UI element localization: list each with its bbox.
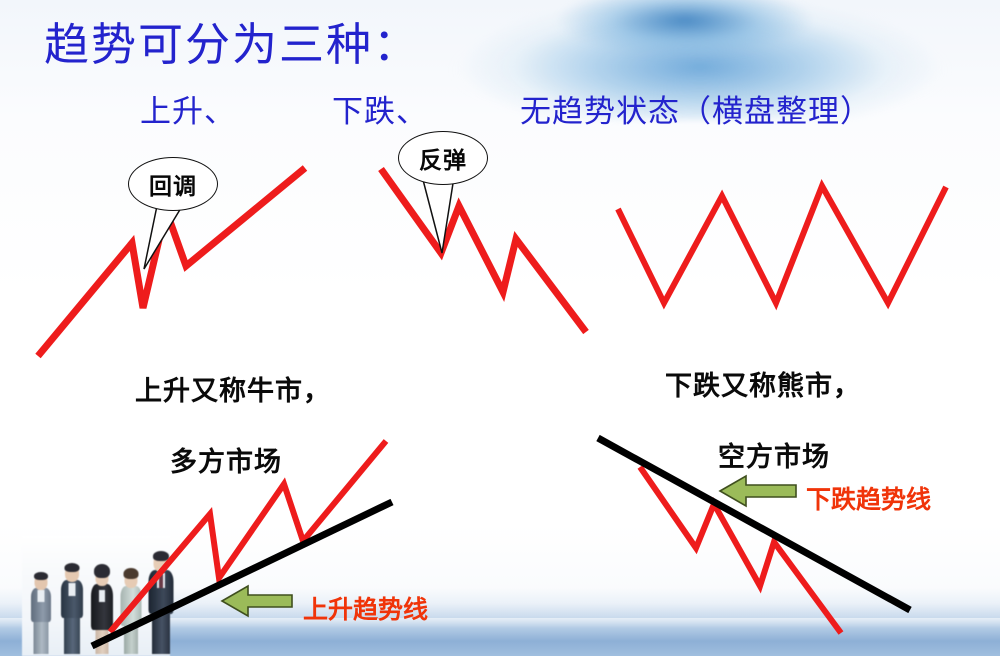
person-1 (28, 572, 54, 654)
caption-bull-line1: 上升又称牛市， (135, 369, 331, 408)
subtitle-downtrend: 下跌、 (332, 86, 428, 131)
subtitle-uptrend: 上升、 (140, 86, 236, 131)
person-3-legs (96, 626, 109, 654)
callout-rebound-bubble: 反弹 (398, 131, 488, 185)
person-2-hair (65, 563, 80, 572)
person-4 (118, 568, 144, 654)
person-1-legs (34, 618, 49, 654)
business-people-photo (22, 536, 170, 656)
caption-bear-line1: 下跌又称熊市， (665, 364, 861, 403)
page-title: 趋势可分为三种： (44, 8, 420, 73)
person-2-shirt (69, 583, 76, 596)
person-4-hair (124, 568, 139, 579)
callout-rebound-label: 反弹 (419, 141, 467, 175)
person-5-hair (153, 551, 169, 561)
person-2-legs (64, 614, 80, 654)
person-1-shirt (38, 590, 45, 602)
person-1-hair (34, 572, 48, 580)
person-4-torso (121, 586, 142, 626)
person-5-tie (159, 574, 163, 588)
uptrend-line-label: 上升趋势线 (303, 590, 428, 626)
subtitle-sideways: 无趋势状态（横盘整理） (520, 86, 872, 131)
person-3-shirt (99, 590, 105, 602)
callout-pullback: 回调 (128, 157, 238, 272)
person-4-legs (124, 622, 138, 654)
person-3 (88, 566, 116, 654)
slide-canvas: 趋势可分为三种： 上升、 下跌、 无趋势状态（横盘整理） 回调 反弹 上升又称牛… (0, 0, 1000, 656)
caption-bear-line2: 空方市场 (718, 435, 830, 474)
person-5 (146, 550, 176, 654)
caption-bull-line2: 多方市场 (170, 440, 282, 479)
downtrend-line-label: 下跌趋势线 (806, 480, 931, 516)
background-sky-core (520, 0, 850, 70)
callout-rebound: 反弹 (398, 131, 508, 256)
person-5-legs (152, 610, 170, 654)
person-2 (58, 562, 86, 654)
callout-pullback-label: 回调 (149, 167, 197, 201)
callout-pullback-bubble: 回调 (128, 157, 218, 211)
person-3-hair (94, 564, 110, 578)
